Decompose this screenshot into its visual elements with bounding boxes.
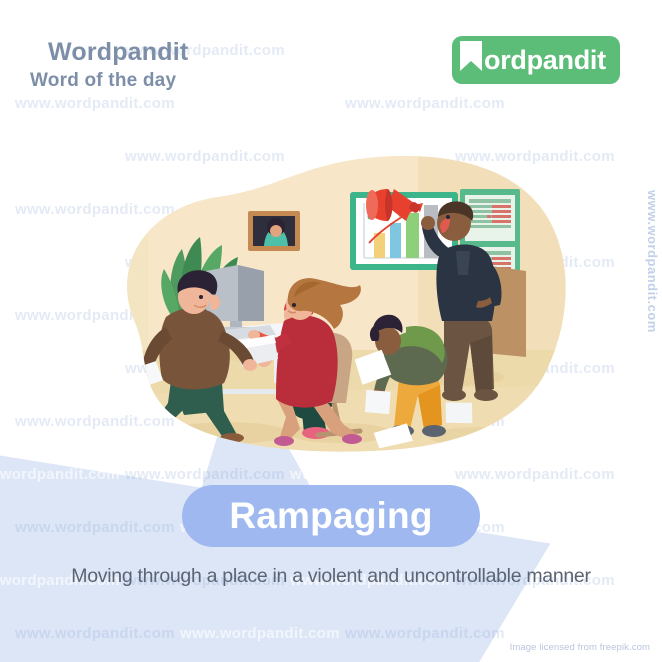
wordpandit-logo[interactable]: ordpandit xyxy=(452,36,620,84)
word-of-the-day-card: www.wordpandit.comwww.wordpandit.comwww.… xyxy=(0,0,662,662)
word-term: Rampaging xyxy=(229,495,432,537)
word-definition: Moving through a place in a violent and … xyxy=(0,565,662,588)
bookmark-w-icon xyxy=(458,41,484,79)
image-credit: Image licensed from freepik.com xyxy=(510,642,650,653)
word-pill: Rampaging xyxy=(182,485,480,547)
brand-subtitle: Word of the day xyxy=(30,70,176,92)
logo-wordmark: ordpandit xyxy=(484,47,606,74)
illustration xyxy=(88,145,588,475)
brand-title: Wordpandit xyxy=(48,38,188,67)
watermark-vertical: www.wordpandit.com xyxy=(645,190,660,333)
